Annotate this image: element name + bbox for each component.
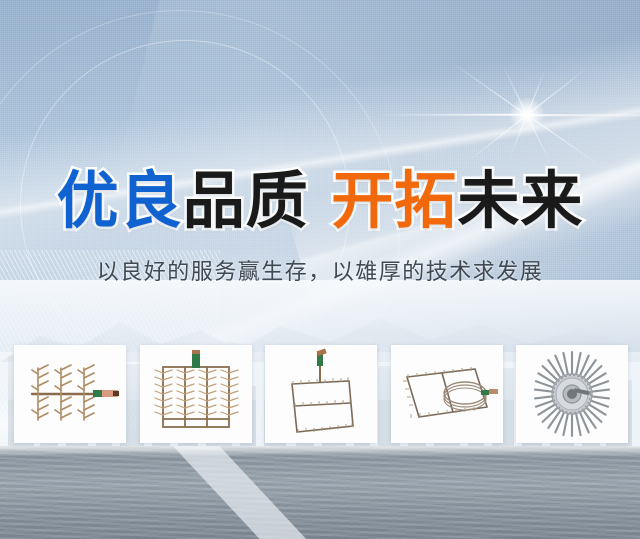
headline: 优良品质 开拓未来 <box>0 165 640 237</box>
headline-segment-orange: 开拓 <box>331 164 457 237</box>
double-row-pin-rack-icon <box>146 349 246 439</box>
product-card-2[interactable] <box>140 345 252 443</box>
headline-segment-blue: 优良 <box>57 164 183 237</box>
starburst-fixture-icon <box>525 348 619 440</box>
panel-frame-ring-icon <box>395 355 499 433</box>
ground-pavement <box>0 446 640 539</box>
ground-highlight <box>0 446 640 456</box>
headline-segment-dark-1: 品质 <box>183 164 309 237</box>
headline-gap <box>309 164 332 237</box>
promo-banner: 优良品质 开拓未来 以良好的服务赢生存，以雄厚的技术求发展 <box>0 0 640 539</box>
product-card-1[interactable] <box>14 345 126 443</box>
product-card-row <box>14 345 628 445</box>
comb-rack-icon <box>18 352 122 436</box>
ground-texture <box>0 446 640 539</box>
product-card-5[interactable] <box>516 345 628 443</box>
rectangular-frame-rack-icon <box>275 348 367 440</box>
product-card-4[interactable] <box>391 345 503 443</box>
product-card-3[interactable] <box>265 345 377 443</box>
headline-segment-dark-2: 未来 <box>457 164 583 237</box>
subtitle: 以良好的服务赢生存，以雄厚的技术求发展 <box>0 258 640 288</box>
